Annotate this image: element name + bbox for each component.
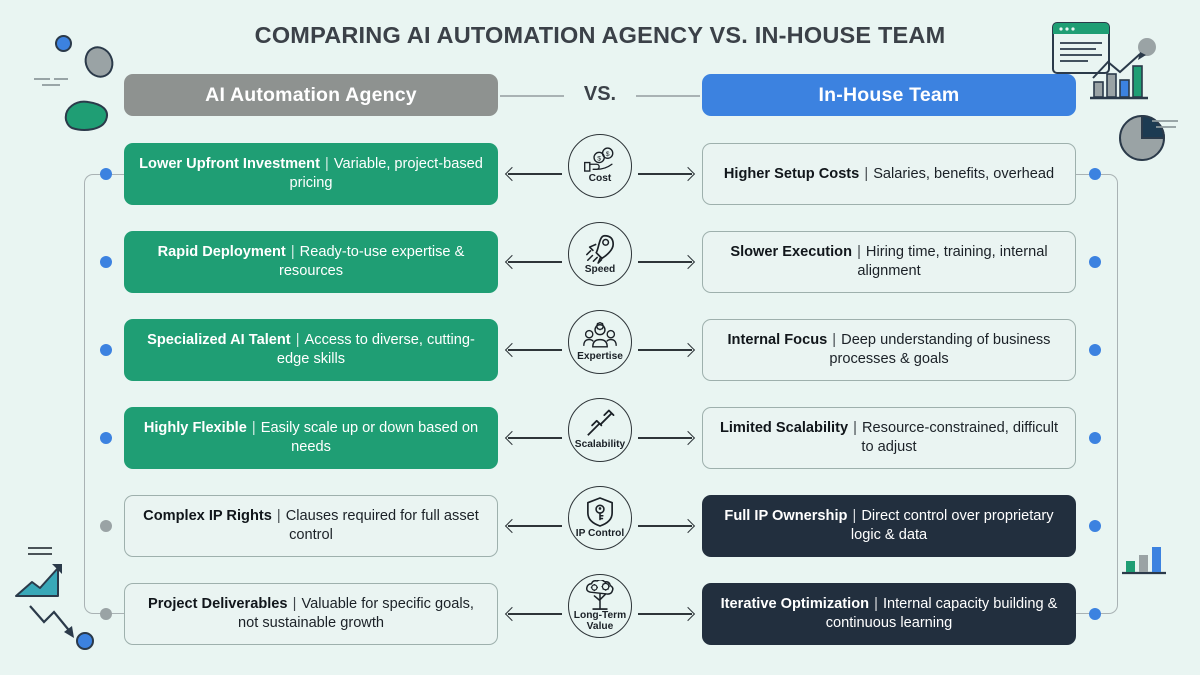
node-label: Cost <box>589 174 612 184</box>
card-description: Direct control over proprietary logic & … <box>851 508 1054 543</box>
arrow-to-left-card <box>508 261 562 263</box>
comparison-row: Rapid Deployment | Ready-to-use expertis… <box>0 231 1200 293</box>
right-comparison-card[interactable]: Full IP Ownership | Direct control over … <box>702 495 1076 557</box>
card-text: Full IP Ownership | Direct control over … <box>716 507 1062 544</box>
vs-line-right <box>636 95 700 97</box>
dash-lines <box>1152 118 1182 132</box>
right-comparison-card[interactable]: Slower Execution | Hiring time, training… <box>702 231 1076 293</box>
card-title: Higher Setup Costs <box>724 166 859 182</box>
card-text: Complex IP Rights | Clauses required for… <box>139 507 483 544</box>
arrow-to-right-card <box>638 349 692 351</box>
right-comparison-card[interactable]: Internal Focus | Deep understanding of b… <box>702 319 1076 381</box>
left-comparison-card[interactable]: Rapid Deployment | Ready-to-use expertis… <box>124 231 498 293</box>
card-text: Highly Flexible | Easily scale up or dow… <box>138 419 484 456</box>
card-text: Lower Upfront Investment | Variable, pro… <box>138 155 484 192</box>
long-term-value-tree-icon: Long-TermValue <box>568 574 632 638</box>
arrow-to-right-card <box>638 613 692 615</box>
arrow-to-right-card <box>638 173 692 175</box>
agency-header-pill: AI Automation Agency <box>124 74 498 116</box>
card-description: Clauses required for full asset control <box>286 508 479 543</box>
page-title: COMPARING AI AUTOMATION AGENCY VS. IN-HO… <box>0 22 1200 49</box>
arrow-to-left-card <box>508 613 562 615</box>
right-rail-knob <box>1089 608 1101 620</box>
card-title: Slower Execution <box>730 244 852 260</box>
cost-icon: $ $ Cost <box>568 134 632 198</box>
scalability-arrows-icon: Scalability <box>568 398 632 462</box>
card-text: Iterative Optimization | Internal capaci… <box>716 595 1062 632</box>
card-title: Internal Focus <box>728 332 828 348</box>
left-rail-knob <box>100 432 112 444</box>
grey-blob <box>82 45 116 79</box>
right-rail-knob <box>1089 432 1101 444</box>
card-title: Project Deliverables <box>148 596 288 612</box>
node-label: Long-TermValue <box>574 611 626 632</box>
card-title: Lower Upfront Investment <box>139 156 320 172</box>
vs-label: VS. <box>566 83 634 106</box>
card-title: Specialized AI Talent <box>147 332 291 348</box>
right-rail-knob <box>1089 256 1101 268</box>
arrow-to-left-card <box>508 525 562 527</box>
arrow-to-right-card <box>638 261 692 263</box>
center-node: Speed <box>566 222 634 302</box>
center-node: Expertise <box>566 310 634 390</box>
node-label: Scalability <box>575 440 625 450</box>
bar-chart-trend-icon <box>1088 50 1150 102</box>
vs-line-left <box>500 95 564 97</box>
left-rail-knob <box>100 168 112 180</box>
left-rail-knob <box>100 344 112 356</box>
card-description: Salaries, benefits, overhead <box>873 166 1054 182</box>
right-rail-knob <box>1089 520 1101 532</box>
right-comparison-card[interactable]: Limited Scalability | Resource-constrain… <box>702 407 1076 469</box>
svg-text:$: $ <box>597 156 601 163</box>
card-description: Deep understanding of business processes… <box>829 332 1050 367</box>
center-node: $ $ Cost <box>566 134 634 214</box>
card-description: Ready-to-use expertise & resources <box>279 244 464 279</box>
card-description: Easily scale up or down based on needs <box>261 420 478 455</box>
card-text: Higher Setup Costs | Salaries, benefits,… <box>724 165 1054 184</box>
card-title: Complex IP Rights <box>143 508 272 524</box>
card-title: Rapid Deployment <box>158 244 286 260</box>
card-title: Highly Flexible <box>144 420 247 436</box>
card-text: Specialized AI Talent | Access to divers… <box>138 331 484 368</box>
comparison-row: Lower Upfront Investment | Variable, pro… <box>0 143 1200 205</box>
arrow-to-right-card <box>638 437 692 439</box>
card-text: Rapid Deployment | Ready-to-use expertis… <box>138 243 484 280</box>
center-node: Scalability <box>566 398 634 478</box>
left-comparison-card[interactable]: Project Deliverables | Valuable for spec… <box>124 583 498 645</box>
arrow-to-left-card <box>508 349 562 351</box>
card-description: Resource-constrained, difficult to adjus… <box>861 420 1058 455</box>
right-rail-knob <box>1089 168 1101 180</box>
left-comparison-card[interactable]: Highly Flexible | Easily scale up or dow… <box>124 407 498 469</box>
expertise-team-icon: Expertise <box>568 310 632 374</box>
comparison-row: Complex IP Rights | Clauses required for… <box>0 495 1200 557</box>
svg-text:$: $ <box>606 151 610 158</box>
card-title: Iterative Optimization <box>721 596 869 612</box>
right-comparison-card[interactable]: Higher Setup Costs | Salaries, benefits,… <box>702 143 1076 205</box>
ip-control-shield-key-icon: IP Control <box>568 486 632 550</box>
card-title: Limited Scalability <box>720 420 848 436</box>
card-description: Access to diverse, cutting-edge skills <box>277 332 475 367</box>
center-node: Long-TermValue <box>566 574 634 654</box>
infographic-canvas: COMPARING AI AUTOMATION AGENCY VS. IN-HO… <box>0 0 1200 675</box>
inhouse-header-pill: In-House Team <box>702 74 1076 116</box>
green-blob <box>58 92 114 134</box>
center-node: IP Control <box>566 486 634 566</box>
node-label: Speed <box>585 265 616 275</box>
comparison-row: Specialized AI Talent | Access to divers… <box>0 319 1200 381</box>
comparison-row: Highly Flexible | Easily scale up or dow… <box>0 407 1200 469</box>
left-rail-knob <box>100 520 112 532</box>
node-label: Expertise <box>577 352 623 362</box>
card-description: Hiring time, training, internal alignmen… <box>857 244 1047 279</box>
speed-rocket-icon: Speed <box>568 222 632 286</box>
arrow-to-right-card <box>638 525 692 527</box>
comparison-row: Project Deliverables | Valuable for spec… <box>0 583 1200 645</box>
arrow-to-left-card <box>508 173 562 175</box>
card-text: Project Deliverables | Valuable for spec… <box>139 595 483 632</box>
node-label: IP Control <box>576 529 625 539</box>
dash-lines <box>34 76 70 90</box>
right-rail-knob <box>1089 344 1101 356</box>
card-text: Slower Execution | Hiring time, training… <box>717 243 1061 280</box>
card-text: Limited Scalability | Resource-constrain… <box>717 419 1061 456</box>
right-comparison-card[interactable]: Iterative Optimization | Internal capaci… <box>702 583 1076 645</box>
left-rail-knob <box>100 256 112 268</box>
card-text: Internal Focus | Deep understanding of b… <box>717 331 1061 368</box>
card-title: Full IP Ownership <box>724 508 847 524</box>
left-rail-knob <box>100 608 112 620</box>
arrow-to-left-card <box>508 437 562 439</box>
left-comparison-card[interactable]: Specialized AI Talent | Access to divers… <box>124 319 498 381</box>
left-comparison-card[interactable]: Lower Upfront Investment | Variable, pro… <box>124 143 498 205</box>
left-comparison-card[interactable]: Complex IP Rights | Clauses required for… <box>124 495 498 557</box>
